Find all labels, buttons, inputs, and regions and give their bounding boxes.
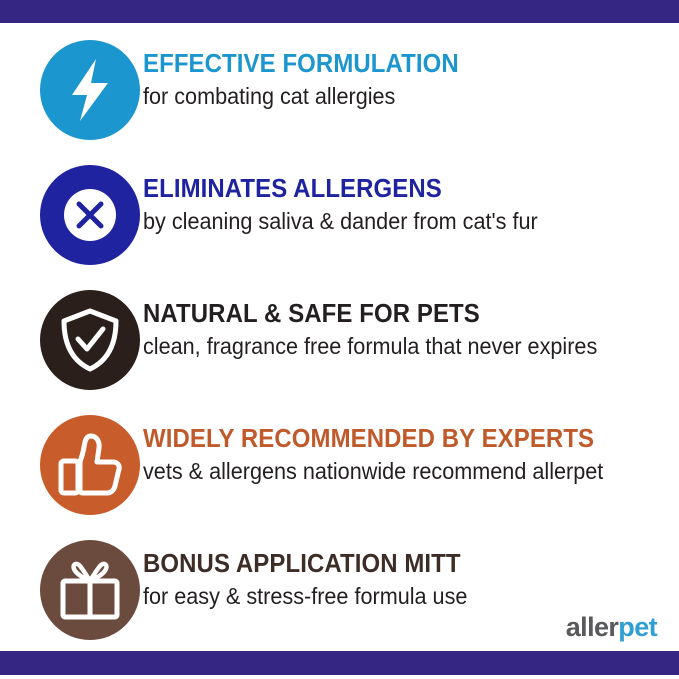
bottom-accent-band [0,651,679,675]
gift-box-icon [40,540,140,640]
allerpet-logo: allerpet [566,612,657,642]
feature-text-block: NATURAL & SAFE FOR PETS clean, fragrance… [143,299,660,361]
thumbs-up-icon [40,415,140,515]
feature-row: BONUS APPLICATION MITT for easy & stress… [40,540,660,665]
feature-subtitle: for easy & stress-free formula use [143,581,629,611]
feature-subtitle: vets & allergens nationwide recommend al… [143,456,629,486]
feature-text-block: BONUS APPLICATION MITT for easy & stress… [143,549,660,611]
feature-text-block: WIDELY RECOMMENDED BY EXPERTS vets & all… [143,424,660,486]
feature-row: WIDELY RECOMMENDED BY EXPERTS vets & all… [40,415,660,540]
feature-title: BONUS APPLICATION MITT [143,549,629,579]
top-accent-band [0,0,679,23]
lightning-bolt-icon [40,40,140,140]
feature-row: NATURAL & SAFE FOR PETS clean, fragrance… [40,290,660,415]
feature-title: WIDELY RECOMMENDED BY EXPERTS [143,424,629,454]
feature-title: EFFECTIVE FORMULATION [143,49,629,79]
feature-subtitle: for combating cat allergies [143,81,629,111]
feature-text-block: EFFECTIVE FORMULATION for combating cat … [143,49,660,111]
x-circle-icon [40,165,140,265]
logo-text-pet: pet [618,612,657,642]
feature-subtitle: by cleaning saliva & dander from cat's f… [143,206,629,236]
feature-row: EFFECTIVE FORMULATION for combating cat … [40,40,660,165]
shield-check-icon [40,290,140,390]
feature-title: NATURAL & SAFE FOR PETS [143,299,629,329]
logo-text-aller: aller [566,612,619,642]
feature-infographic: EFFECTIVE FORMULATION for combating cat … [0,0,679,679]
feature-title: ELIMINATES ALLERGENS [143,174,629,204]
feature-subtitle: clean, fragrance free formula that never… [143,331,629,361]
feature-list: EFFECTIVE FORMULATION for combating cat … [40,40,660,665]
feature-row: ELIMINATES ALLERGENS by cleaning saliva … [40,165,660,290]
feature-text-block: ELIMINATES ALLERGENS by cleaning saliva … [143,174,660,236]
